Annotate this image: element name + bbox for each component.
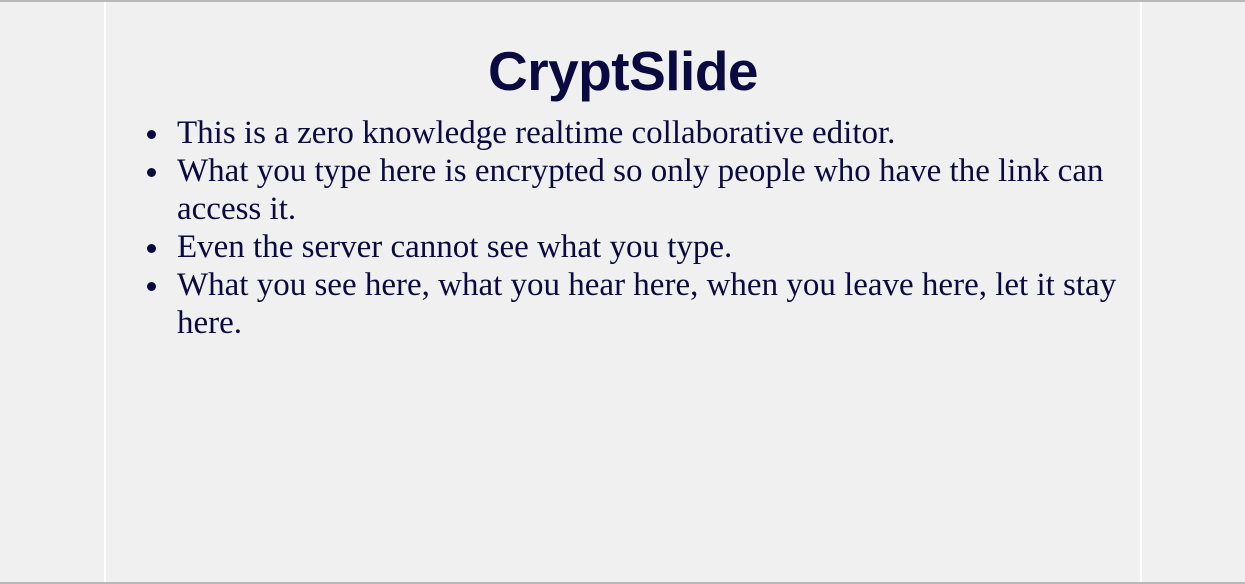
list-item[interactable]: Even the server cannot see what you type… xyxy=(106,228,1140,266)
slide-viewer: CryptSlide This is a zero knowledge real… xyxy=(0,0,1245,584)
list-item[interactable]: What you type here is encrypted so only … xyxy=(106,152,1140,228)
bullet-dot-icon xyxy=(147,282,156,291)
slide-canvas[interactable]: CryptSlide This is a zero knowledge real… xyxy=(106,2,1140,582)
slide-bullet-list: This is a zero knowledge realtime collab… xyxy=(106,114,1140,342)
list-item[interactable]: This is a zero knowledge realtime collab… xyxy=(106,114,1140,152)
bullet-dot-icon xyxy=(147,168,156,177)
right-gutter-rule xyxy=(1140,2,1142,582)
bullet-dot-icon xyxy=(147,130,156,139)
bullet-text: What you type here is encrypted so only … xyxy=(177,152,1118,228)
bullet-dot-icon xyxy=(147,244,156,253)
list-item[interactable]: What you see here, what you hear here, w… xyxy=(106,266,1140,342)
bullet-text: This is a zero knowledge realtime collab… xyxy=(177,114,1118,152)
bullet-text: Even the server cannot see what you type… xyxy=(177,228,1118,266)
bullet-text: What you see here, what you hear here, w… xyxy=(177,266,1118,342)
slide-title[interactable]: CryptSlide xyxy=(106,44,1140,99)
